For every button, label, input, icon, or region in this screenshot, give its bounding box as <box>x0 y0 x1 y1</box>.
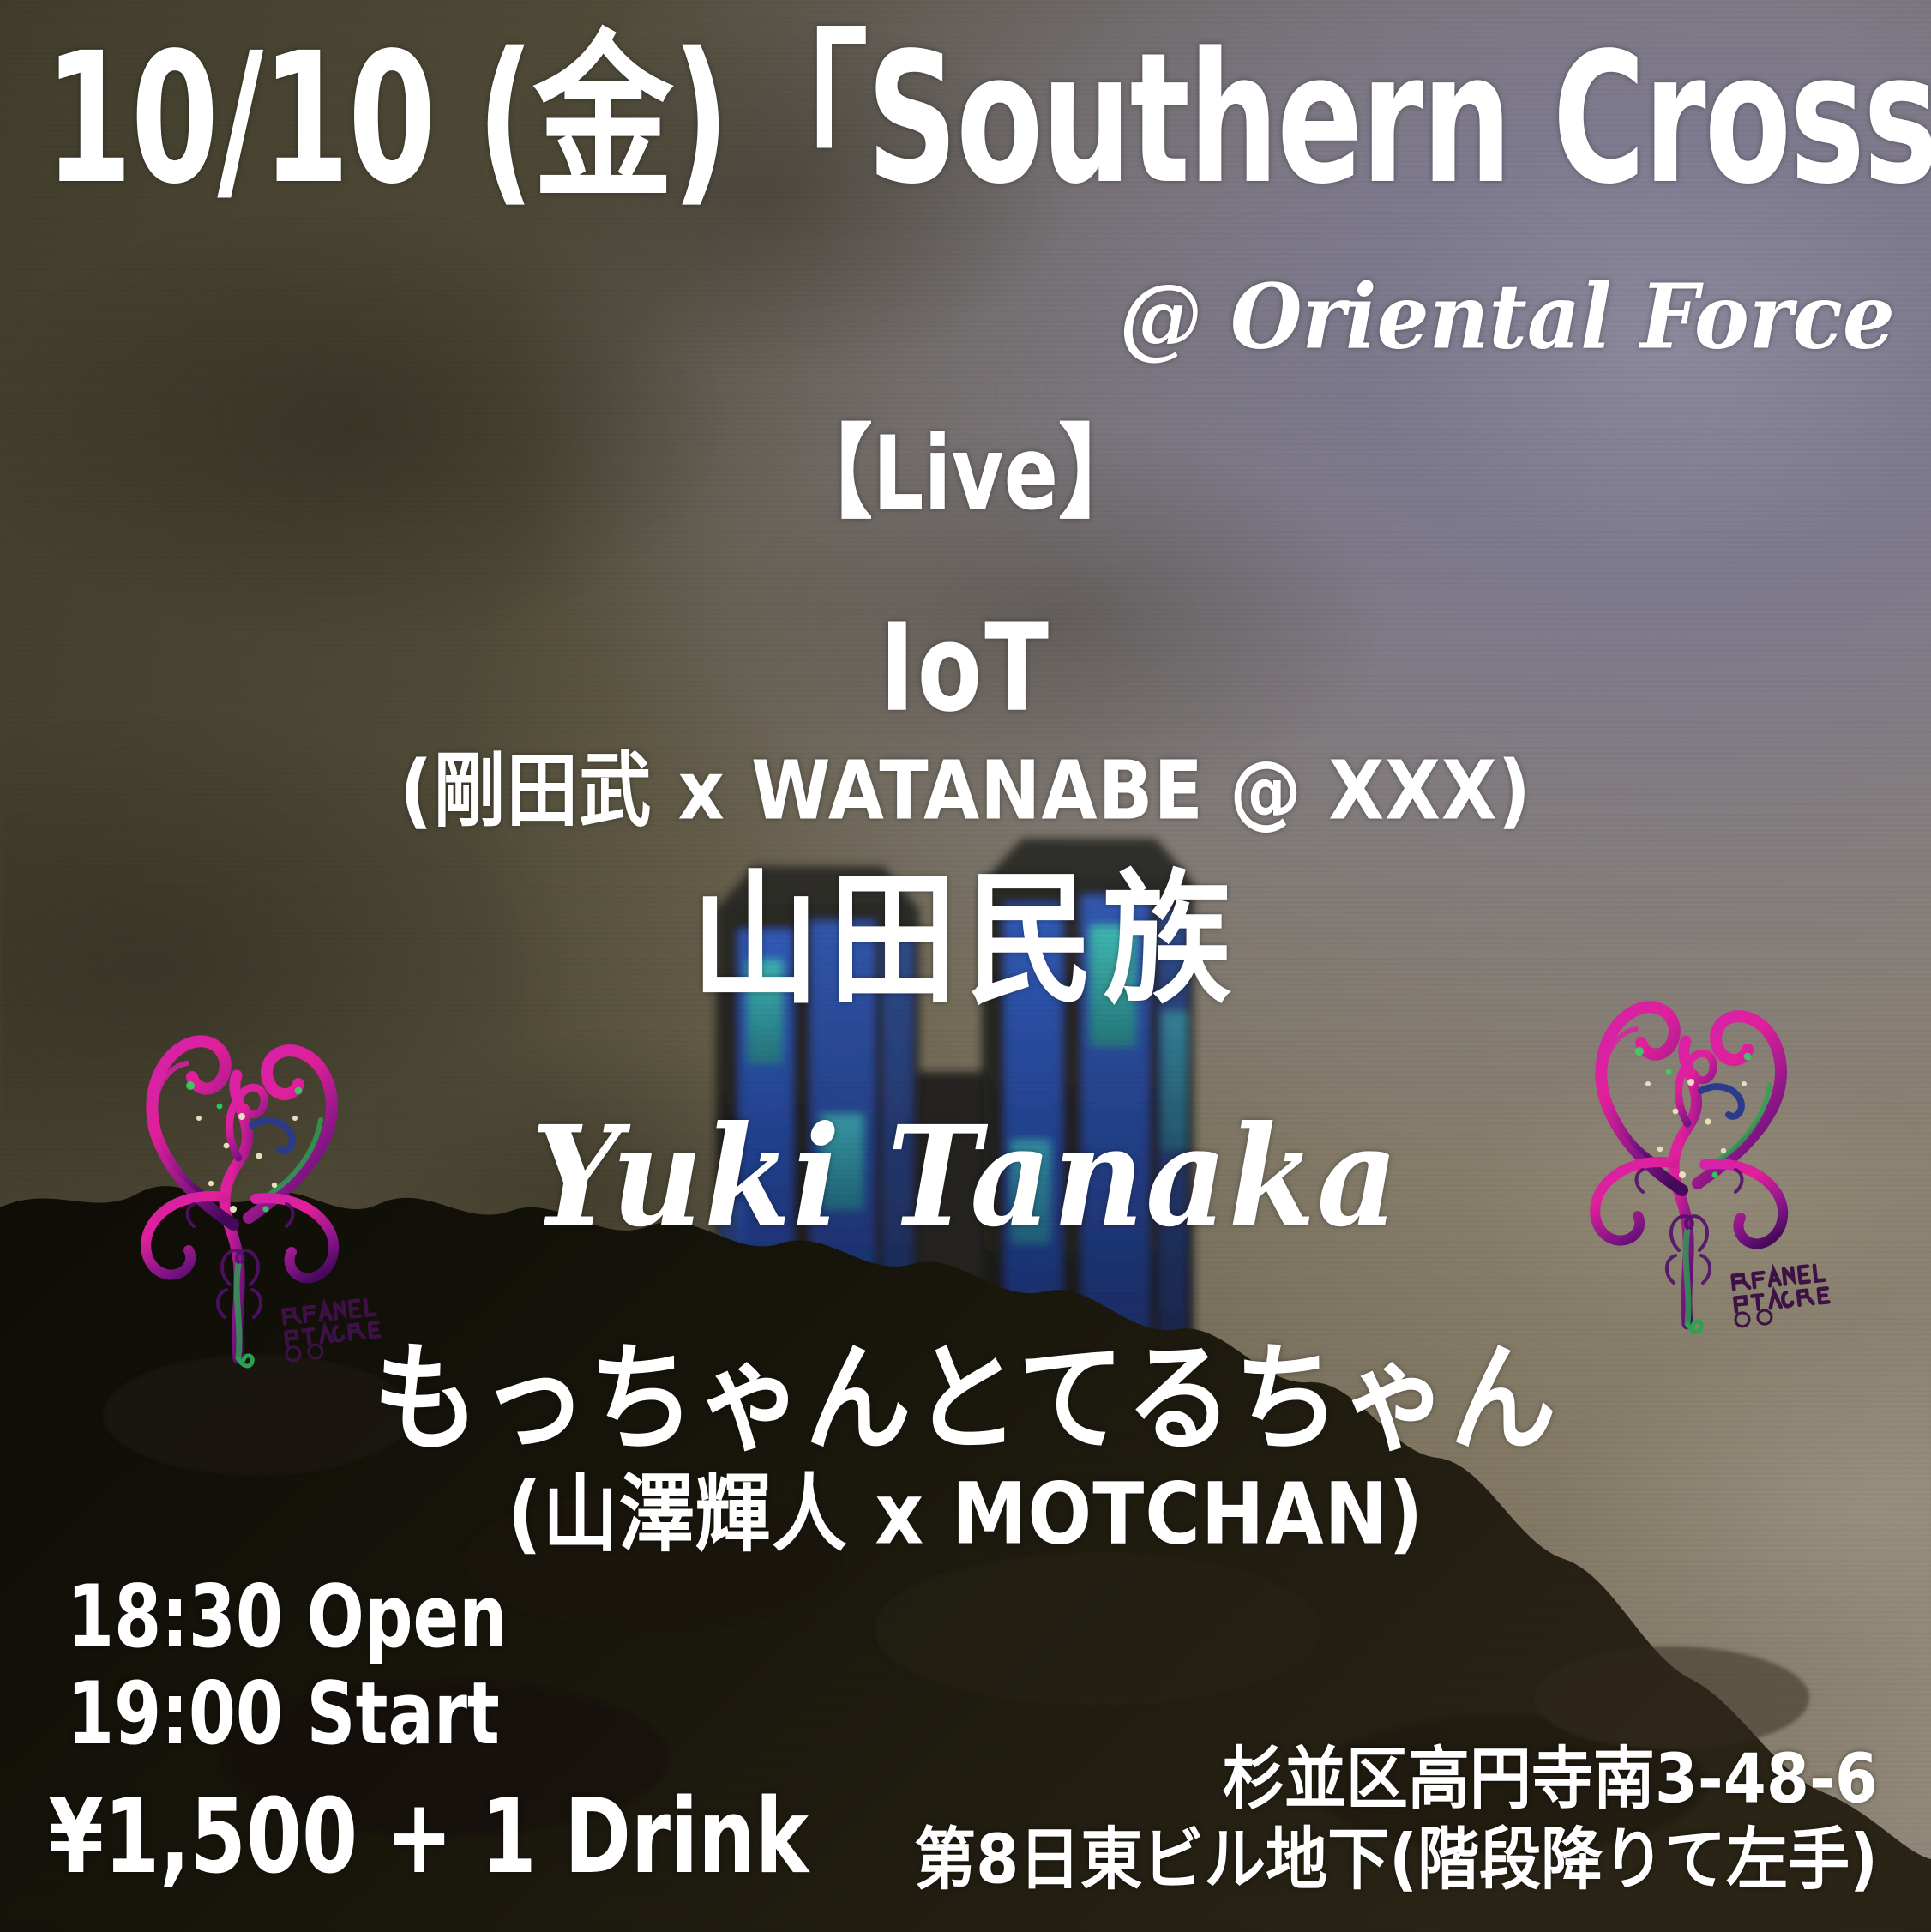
paisley-flourish-ornament-right <box>1531 907 1844 1336</box>
act-name-2: 山田民族 <box>691 869 1240 1013</box>
act-members-4: (山澤輝人 x MOTCHAN) <box>508 1472 1424 1557</box>
oriental-force-graffiti-tag <box>281 1298 381 1361</box>
flyer-canvas: 10/10 (金)「Southern Cross」 @ Oriental For… <box>0 0 1931 1932</box>
address-line-1: 杉並区高円寺南3-48-6 <box>914 1735 1878 1823</box>
ticket-price: ¥1,500 + 1 Drink <box>48 1775 809 1897</box>
act-name-3: Yuki Tanaka <box>532 1109 1400 1247</box>
act-members-1: (剛田武 x WATANABE @ XXX) <box>400 750 1531 831</box>
start-time: 19:00 Start <box>67 1659 508 1769</box>
act-name-1: IoT <box>880 607 1051 729</box>
act-name-4: もっちゃんとてるちゃん <box>373 1340 1558 1460</box>
paisley-flourish-ornament-left <box>82 942 394 1370</box>
event-title: 10/10 (金)「Southern Cross」 <box>45 29 1931 209</box>
open-time: 18:30 Open <box>67 1562 508 1672</box>
live-section-header: 【Live】 <box>784 423 1147 525</box>
oriental-force-graffiti-tag <box>1730 1264 1830 1327</box>
venue-name: @ Oriental Force <box>1120 273 1895 362</box>
schedule-block: 18:30 Open 19:00 Start <box>67 1569 508 1762</box>
address-line-2: 第8日東ビル地下(階段降りて左手) <box>914 1815 1878 1904</box>
venue-address-block: 杉並区高円寺南3-48-6 第8日東ビル地下(階段降りて左手) <box>914 1739 1878 1899</box>
